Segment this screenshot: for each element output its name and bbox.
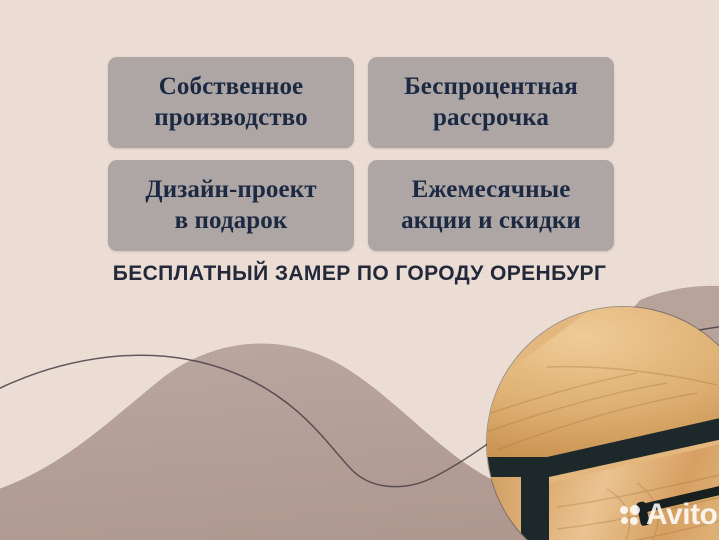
metal-post — [521, 473, 549, 540]
card-own-production[interactable]: Собственное производство — [108, 57, 354, 148]
avito-brand-text: Avito — [646, 500, 717, 530]
card-label: Дизайн-проект в подарок — [137, 175, 324, 236]
avito-dots-icon — [620, 505, 641, 526]
poster-canvas: Собственное производство Беспроцентная р… — [0, 0, 719, 540]
card-design-project-gift[interactable]: Дизайн-проект в подарок — [108, 160, 354, 251]
card-label: Ежемесячные акции и скидки — [393, 175, 589, 236]
free-measurement-caption: БЕСПЛАТНЫЙ ЗАМЕР ПО ГОРОДУ ОРЕНБУРГ — [0, 262, 719, 286]
card-monthly-promotions[interactable]: Ежемесячные акции и скидки — [368, 160, 614, 251]
feature-cards: Собственное производство Беспроцентная р… — [108, 57, 614, 251]
card-label: Беспроцентная рассрочка — [396, 72, 586, 133]
card-interest-free-installment[interactable]: Беспроцентная рассрочка — [368, 57, 614, 148]
nightstand-side — [487, 477, 521, 540]
avito-watermark: Avito — [620, 500, 717, 530]
card-label: Собственное производство — [146, 72, 315, 133]
